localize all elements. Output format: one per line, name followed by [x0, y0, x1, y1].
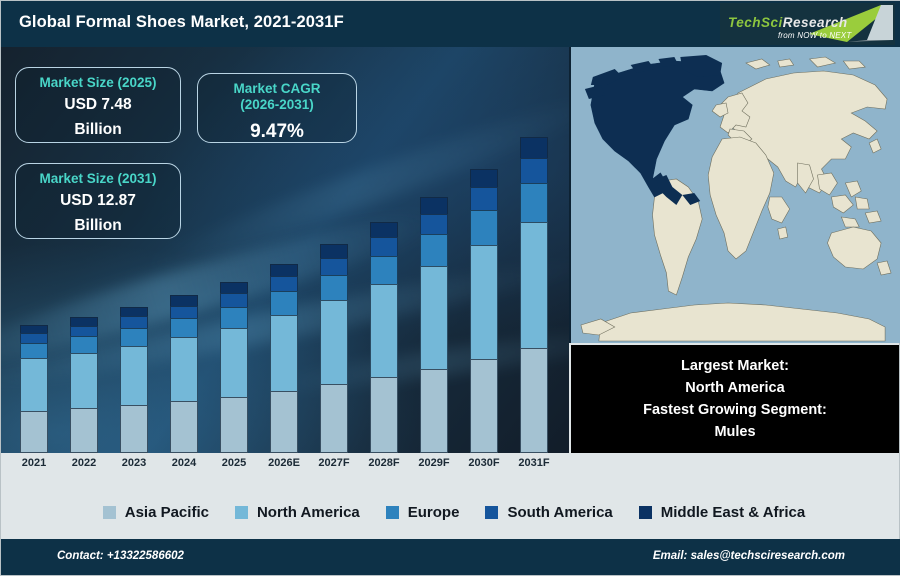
bar-segment — [270, 291, 298, 314]
world-map — [569, 47, 900, 343]
bar-segment — [120, 346, 148, 405]
legend-item[interactable]: Europe — [386, 504, 460, 521]
logo-tagline: from NOW to NEXT — [778, 31, 851, 40]
logo-research-text: Research — [783, 15, 848, 30]
bar-segment — [270, 315, 298, 391]
legend-swatch-icon — [235, 506, 248, 519]
x-axis-tick: 2029F — [409, 457, 459, 469]
bar-segment — [320, 275, 348, 301]
bar-segment — [170, 401, 198, 453]
bar-segment — [270, 391, 298, 453]
bar-segment — [20, 411, 48, 453]
legend-label: South America — [507, 504, 612, 521]
bar-segment — [320, 384, 348, 453]
footer-contact[interactable]: Contact: +13322586602 — [57, 550, 184, 562]
bar-2029F — [420, 197, 448, 453]
x-axis-tick: 2022 — [59, 457, 109, 469]
bar-segment — [520, 183, 548, 222]
bar-segment — [520, 137, 548, 158]
bar-segment — [20, 333, 48, 343]
bar-segment — [470, 359, 498, 453]
bar-segment — [170, 318, 198, 337]
legend-item[interactable]: North America — [235, 504, 360, 521]
page-title: Global Formal Shoes Market, 2021-2031F — [19, 13, 344, 32]
bar-segment — [320, 244, 348, 258]
largest-market-label: Largest Market: — [681, 355, 789, 377]
bar-segment — [270, 264, 298, 277]
logo-wordmark: TechSciResearch — [728, 16, 848, 30]
highlights-box: Largest Market: North America Fastest Gr… — [571, 345, 899, 453]
x-axis-tick: 2030F — [459, 457, 509, 469]
bar-segment — [320, 300, 348, 384]
bar-segment — [70, 326, 98, 337]
bar-segment — [470, 187, 498, 209]
bar-segment — [520, 158, 548, 183]
x-axis-tick: 2021 — [9, 457, 59, 469]
bar-segment — [220, 307, 248, 328]
bar-2031F — [520, 137, 548, 453]
bar-segment — [420, 234, 448, 266]
x-axis-tick: 2025 — [209, 457, 259, 469]
x-axis-tick: 2028F — [359, 457, 409, 469]
header-bar: Global Formal Shoes Market, 2021-2031F T… — [1, 1, 900, 47]
x-axis-tick: 2024 — [159, 457, 209, 469]
legend-swatch-icon — [485, 506, 498, 519]
stacked-bar-chart — [1, 47, 569, 453]
bar-segment — [320, 258, 348, 275]
bar-2022 — [70, 317, 98, 453]
bar-2024 — [170, 295, 198, 453]
fastest-segment-label: Fastest Growing Segment: — [643, 399, 827, 421]
legend-label: Europe — [408, 504, 460, 521]
bar-segment — [470, 169, 498, 188]
bar-2026E — [270, 264, 298, 453]
bar-segment — [120, 307, 148, 317]
footer-bar: Contact: +13322586602 Email: sales@techs… — [1, 539, 900, 575]
bar-segment — [220, 293, 248, 307]
bar-segment — [270, 276, 298, 291]
bar-segment — [370, 256, 398, 284]
world-map-svg — [571, 47, 900, 343]
bar-segment — [120, 328, 148, 346]
bar-segment — [20, 358, 48, 410]
x-axis-labels: 202120222023202420252026E2027F2028F2029F… — [1, 453, 569, 479]
bar-segment — [170, 306, 198, 318]
bar-2023 — [120, 307, 148, 453]
bar-2025 — [220, 282, 248, 453]
bar-segment — [70, 353, 98, 408]
legend-swatch-icon — [639, 506, 652, 519]
chart-panel: Market Size (2025) USD 7.48 Billion Mark… — [1, 47, 569, 453]
bar-2030F — [470, 169, 498, 453]
bar-segment — [70, 336, 98, 352]
bar-segment — [420, 197, 448, 214]
bar-segment — [420, 214, 448, 234]
x-axis-tick: 2027F — [309, 457, 359, 469]
bar-segment — [170, 295, 198, 305]
bar-segment — [120, 316, 148, 327]
bar-2027F — [320, 244, 348, 453]
bar-segment — [420, 266, 448, 369]
bar-segment — [120, 405, 148, 453]
logo-tech-text: TechSci — [728, 15, 783, 30]
legend-swatch-icon — [103, 506, 116, 519]
bar-segment — [170, 337, 198, 401]
bar-segment — [520, 222, 548, 348]
legend-item[interactable]: Asia Pacific — [103, 504, 209, 521]
techsci-logo[interactable]: TechSciResearch from NOW to NEXT — [720, 3, 895, 45]
bar-segment — [20, 343, 48, 358]
chart-legend: Asia PacificNorth AmericaEuropeSouth Ame… — [1, 489, 900, 535]
bar-2028F — [370, 222, 398, 453]
bar-segment — [470, 210, 498, 245]
bar-segment — [220, 282, 248, 293]
legend-label: North America — [257, 504, 360, 521]
fastest-segment-value: Mules — [714, 421, 755, 443]
bar-segment — [520, 348, 548, 453]
footer-email[interactable]: Email: sales@techsciresearch.com — [653, 550, 845, 562]
legend-item[interactable]: Middle East & Africa — [639, 504, 805, 521]
x-axis-tick: 2026E — [259, 457, 309, 469]
bar-segment — [70, 317, 98, 326]
bar-segment — [70, 408, 98, 453]
bar-segment — [370, 377, 398, 453]
bar-segment — [370, 284, 398, 377]
legend-item[interactable]: South America — [485, 504, 612, 521]
bar-segment — [420, 369, 448, 453]
legend-swatch-icon — [386, 506, 399, 519]
bar-2021 — [20, 325, 48, 453]
largest-market-value: North America — [685, 377, 784, 399]
infographic-root: Global Formal Shoes Market, 2021-2031F T… — [0, 0, 900, 576]
bar-segment — [470, 245, 498, 359]
legend-label: Asia Pacific — [125, 504, 209, 521]
bar-segment — [220, 397, 248, 453]
bar-segment — [370, 222, 398, 237]
bar-segment — [20, 325, 48, 333]
x-axis-tick: 2031F — [509, 457, 559, 469]
x-axis-tick: 2023 — [109, 457, 159, 469]
bar-segment — [220, 328, 248, 397]
bar-segment — [370, 237, 398, 255]
legend-label: Middle East & Africa — [661, 504, 805, 521]
